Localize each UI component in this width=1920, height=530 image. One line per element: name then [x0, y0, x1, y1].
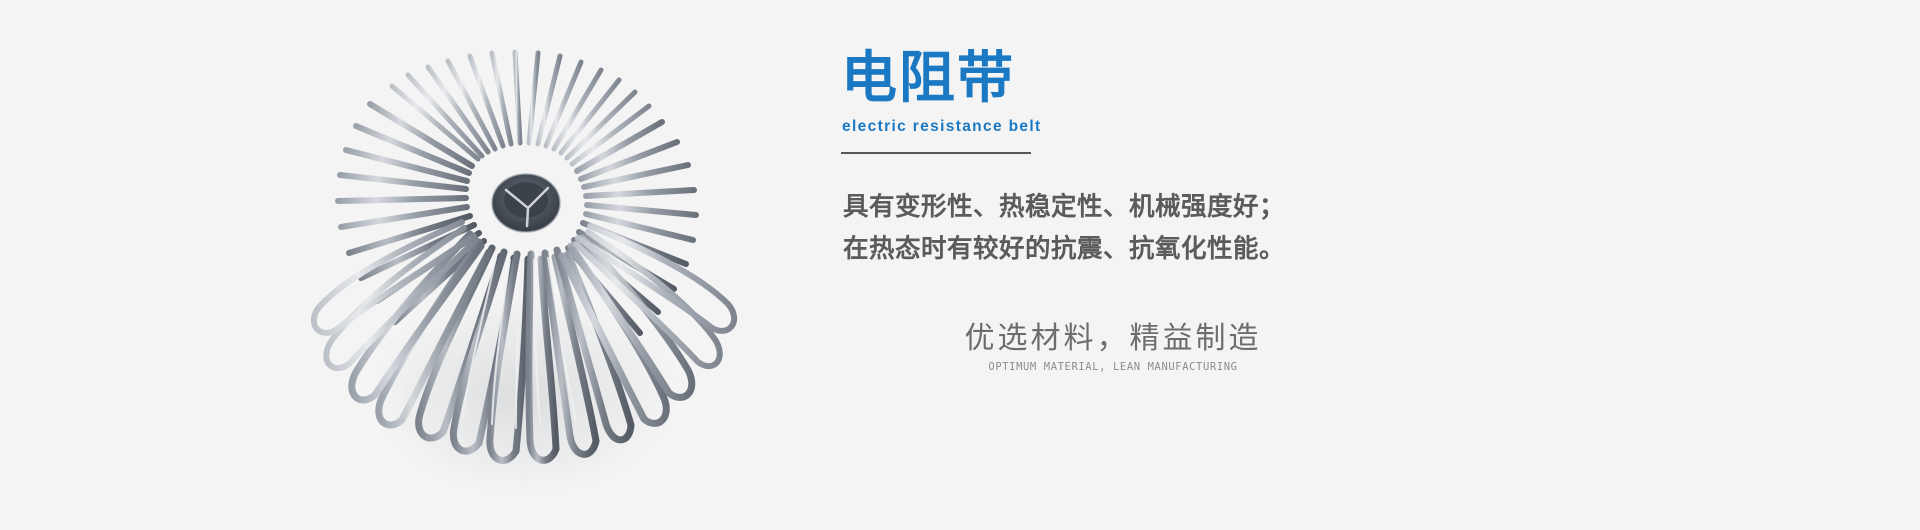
description-line-1: 具有变形性、热稳定性、机械强度好； — [843, 186, 1443, 228]
product-banner: 电阻带 electric resistance belt 具有变形性、热稳定性、… — [0, 0, 1920, 530]
slogan-chinese: 优选材料，精益制造 — [943, 320, 1283, 358]
hub — [492, 174, 560, 232]
page-title: 电阻带 — [841, 48, 1015, 108]
product-description: 具有变形性、热稳定性、机械强度好； 在热态时有较好的抗震、抗氧化性能。 — [843, 186, 1443, 270]
description-line-2: 在热态时有较好的抗震、抗氧化性能。 — [843, 228, 1443, 270]
page-subtitle: electric resistance belt — [842, 117, 1042, 137]
slogan-block: 优选材料，精益制造 OPTIMUM MATERIAL, LEAN MANUFAC… — [943, 320, 1283, 374]
copy-column: 电阻带 electric resistance belt 具有变形性、热稳定性、… — [841, 0, 1481, 530]
slogan-english: OPTIMUM MATERIAL, LEAN MANUFACTURING — [943, 360, 1283, 374]
product-image — [296, 42, 776, 512]
resistance-belt-coil-icon — [296, 42, 776, 512]
title-divider — [841, 152, 1031, 154]
